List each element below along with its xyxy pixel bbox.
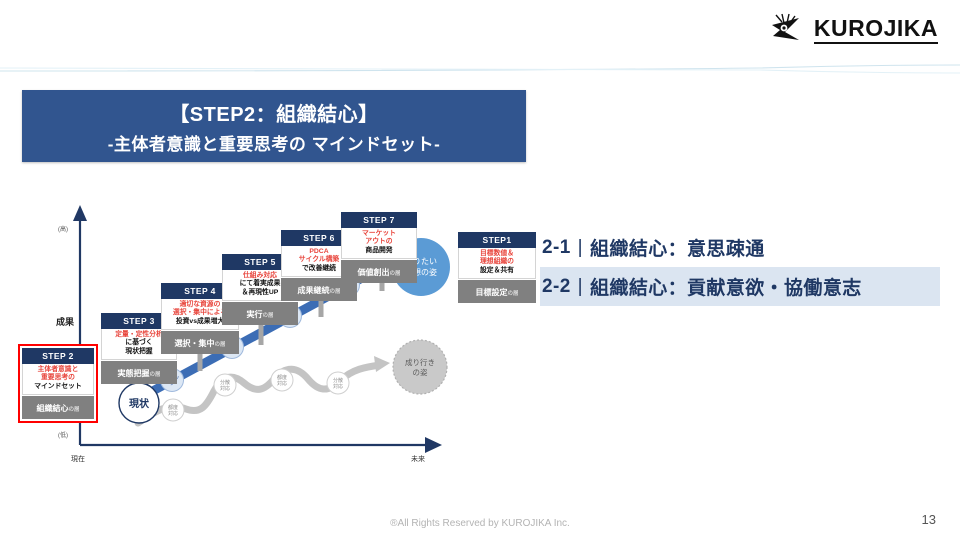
step-layer-name: 選択・集中 [174,339,214,348]
agenda-item-2-1[interactable]: 2-1 | 組織結心：意思疎通 [540,228,940,267]
brand-logo: KUROJIKA [769,12,938,48]
step-layer-suffix: の層 [389,271,400,277]
step-box-emphasis-line: 重要思考の [24,374,92,382]
deer-head-icon [769,12,809,48]
agenda-separator: | [578,276,583,298]
wave-marker-label: 分散 [333,377,343,384]
step-box-body: 主体者意識と重要思考のマインドセット [22,364,94,395]
step-box-header: STEP1 [458,232,536,248]
step-layer-suffix: の層 [329,289,340,295]
step-box-body: マーケットアウトの商品開発 [341,228,417,259]
step-layer-band: 選択・集中の層 [161,331,239,354]
agenda-label: 組織結心：貢献意欲・協働意志 [590,273,862,300]
x-axis-start-label: 現在 [71,454,85,463]
current-state-node: 現状 [119,383,159,423]
header-divider [0,64,960,74]
wave-marker-label: 対応 [168,410,178,417]
step-layer-name: 実行 [246,310,262,319]
wave-marker-label: 対応 [220,385,230,392]
slide-title-main: 【STEP2：組織結心】 [169,98,378,127]
brand-name: KUROJIKA [814,16,938,43]
agenda-item-2-2[interactable]: 2-2 | 組織結心：貢献意欲・協働意志 [540,267,940,306]
step-layer-name: 価値創出 [357,268,389,277]
step-layer-band: 価値創出の層 [341,260,417,283]
agenda-number: 2-1 [542,237,571,259]
y-axis-high-label: (高) [58,225,68,233]
endpoint-natural-course: 成り行き の姿 [393,340,447,394]
step-layer-name: 実態把握 [117,369,149,378]
step-layer-name: 組織結心 [36,404,68,413]
slide-title-banner: 【STEP2：組織結心】 -主体者意識と重要思考の マインドセット- [22,90,526,162]
agenda-list: 2-1 | 組織結心：意思疎通 2-2 | 組織結心：貢献意欲・協働意志 [540,228,940,306]
step-layer-band: 実態把握の層 [101,361,177,384]
y-axis-label: 成果 [56,316,75,327]
current-state-label: 現状 [129,397,150,410]
wave-marker-label: 対応 [333,383,343,390]
step-box-text-line: 商品開発 [343,247,415,255]
agenda-separator: | [578,237,583,259]
endpoint-label: の姿 [413,367,428,377]
step-layer-suffix: の層 [149,372,160,378]
step-box-header: STEP 2 [22,348,94,364]
agenda-number: 2-2 [542,276,571,298]
step-box-header: STEP 7 [341,212,417,228]
slide-title-sub: -主体者意識と重要思考の マインドセット- [108,130,441,155]
step-box-text-line: 設定＆共有 [460,267,534,275]
step-layer-name: 成果継続 [297,286,329,295]
copyright-footer: ®All Rights Reserved by KUROJIKA Inc. [0,518,960,529]
x-axis-end-label: 未来 [411,454,425,463]
step-layer-band: 目標設定の層 [458,280,536,303]
step-layer-name: 目標設定 [475,288,507,297]
step-layer-band: 実行の層 [222,302,298,325]
step-layer-suffix: の層 [68,407,79,413]
wave-marker-label: 都度 [168,404,178,411]
step-layer-suffix: の層 [262,313,273,319]
endpoint-label: 成り行き [405,357,435,367]
wave-marker-label: 都度 [277,374,287,381]
step-box-emphasis-line: 理想組織の [460,258,534,266]
step-box-text-line: マインドセット [24,383,92,391]
wave-marker-label: 分散 [220,379,230,386]
step-layer-suffix: の層 [214,342,225,348]
page-number: 13 [922,512,936,527]
step-layer-band: 組織結心の層 [22,396,94,419]
y-axis-low-label: (低) [58,431,68,439]
step-box-step2[interactable]: STEP 2主体者意識と重要思考のマインドセット組織結心の層 [18,344,98,423]
step-box-body: 目標数値＆理想組織の設定＆共有 [458,248,536,279]
step-layer-suffix: の層 [507,291,518,297]
step-box-step1[interactable]: STEP1目標数値＆理想組織の設定＆共有目標設定の層 [458,232,536,303]
agenda-label: 組織結心：意思疎通 [590,234,765,261]
wave-marker-label: 対応 [277,380,287,387]
step-box-emphasis-line: アウトの [343,238,415,246]
step-box-step7[interactable]: STEP 7マーケットアウトの商品開発価値創出の層 [341,212,417,283]
